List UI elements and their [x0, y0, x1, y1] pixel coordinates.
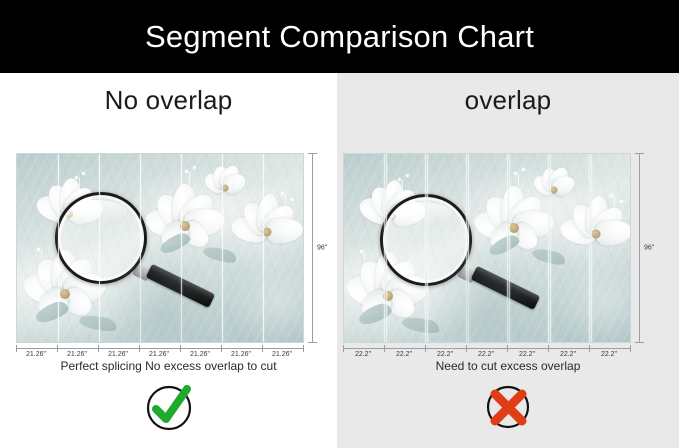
panel-overlap: overlap: [337, 73, 679, 448]
comparison-chart-page: Segment Comparison Chart No overlap: [0, 0, 679, 448]
caption-right: Need to cut excess overlap: [337, 359, 679, 373]
berry-3: [514, 172, 517, 175]
height-label: 96": [643, 245, 655, 252]
seam-line: [58, 154, 59, 342]
seam-line: [99, 154, 100, 342]
sprig-4: [364, 252, 365, 270]
berry-7: [37, 248, 40, 251]
segment-width-label: 22.2": [396, 351, 412, 358]
ruler-baseline-vertical: [312, 153, 313, 343]
ruler-baseline: [343, 348, 631, 349]
berry-1: [398, 178, 401, 181]
segment-width-label: 22.2": [519, 351, 535, 358]
segment-width-label: 22.2": [560, 351, 576, 358]
leaf-c-2: [202, 243, 238, 266]
sprig-1: [402, 180, 403, 202]
title-banner: Segment Comparison Chart: [0, 0, 679, 73]
seam-line: [263, 154, 264, 342]
panel-heading-left: No overlap: [0, 85, 337, 116]
leaf-bl-2: [401, 314, 441, 337]
height-label: 96": [316, 245, 328, 252]
berry-6: [620, 200, 623, 203]
sprig-2: [189, 172, 190, 196]
magnifier-ferrule: [132, 263, 152, 282]
magnifying-glass-icon: [380, 194, 472, 286]
berry-2: [82, 172, 85, 175]
page-title: Segment Comparison Chart: [145, 19, 534, 55]
berry-4: [522, 168, 525, 171]
segment-width-label: 21.26": [231, 351, 251, 358]
leaf-bl-2: [78, 312, 118, 335]
height-ruler-right: 96": [633, 153, 655, 343]
panel-heading-right: overlap: [337, 85, 679, 116]
segment-width-label: 21.26": [108, 351, 128, 358]
magnifier-handle: [146, 264, 215, 308]
segment-width-label: 22.2": [437, 351, 453, 358]
seam-lines-left: [17, 154, 303, 342]
ruler-baseline: [16, 348, 304, 349]
seam-line-overlap: [589, 154, 592, 342]
segment-width-label: 21.26": [149, 351, 169, 358]
panels-container: No overlap: [0, 73, 679, 448]
seam-line: [140, 154, 141, 342]
segment-width-label: 21.26": [190, 351, 210, 358]
seam-line-overlap: [507, 154, 510, 342]
berry-5: [610, 194, 613, 197]
berry-4: [193, 166, 196, 169]
berry-3: [185, 170, 188, 173]
height-ruler-left: 96": [306, 153, 328, 343]
sprig-1: [79, 178, 80, 200]
segment-width-label: 21.26": [26, 351, 46, 358]
segment-width-label: 21.26": [272, 351, 292, 358]
seam-lines-right: [344, 154, 630, 342]
seam-line-overlap: [548, 154, 551, 342]
check-mark-icon: [143, 381, 195, 433]
mural-image-left: [16, 153, 304, 343]
berry-6: [291, 198, 294, 201]
segment-width-label: 21.26": [67, 351, 87, 358]
mural-right-wrap: 22.2" 22.2" 22.2" 22.2" 22.2" 22.2" 22.2…: [343, 153, 631, 343]
magnifier-right: [380, 194, 472, 286]
seam-line: [222, 154, 223, 342]
cross-mark-icon: [482, 381, 534, 433]
caption-left: Perfect splicing No excess overlap to cu…: [0, 359, 337, 373]
sprig-2: [518, 174, 519, 198]
seam-line-overlap: [425, 154, 428, 342]
leaf-c-1: [487, 233, 522, 258]
berry-5: [281, 192, 284, 195]
panel-no-overlap: No overlap: [0, 73, 337, 448]
magnifier-ferrule: [457, 265, 477, 284]
berry-7: [360, 250, 363, 253]
magnifier-left: [55, 192, 147, 284]
seam-line-overlap: [466, 154, 469, 342]
leaf-c-2: [531, 245, 567, 268]
seam-line-overlap: [384, 154, 387, 342]
sprig-4: [41, 250, 42, 268]
magnifier-handle: [471, 266, 540, 310]
leaf-bl-1: [33, 299, 70, 325]
mural-image-right: [343, 153, 631, 343]
seam-line: [181, 154, 182, 342]
sprig-3: [285, 194, 286, 214]
segment-width-label: 22.2": [478, 351, 494, 358]
leaf-bl-1: [356, 301, 393, 327]
segment-width-label: 22.2": [601, 351, 617, 358]
sprig-3: [614, 196, 615, 216]
berry-1: [75, 176, 78, 179]
segment-width-label: 22.2": [355, 351, 371, 358]
mural-left-wrap: 21.26" 21.26" 21.26" 21.26" 21.26" 21.26…: [16, 153, 304, 343]
berry-2: [406, 174, 409, 177]
magnifying-glass-icon: [55, 192, 147, 284]
ruler-baseline-vertical: [639, 153, 640, 343]
leaf-c-1: [158, 231, 193, 256]
